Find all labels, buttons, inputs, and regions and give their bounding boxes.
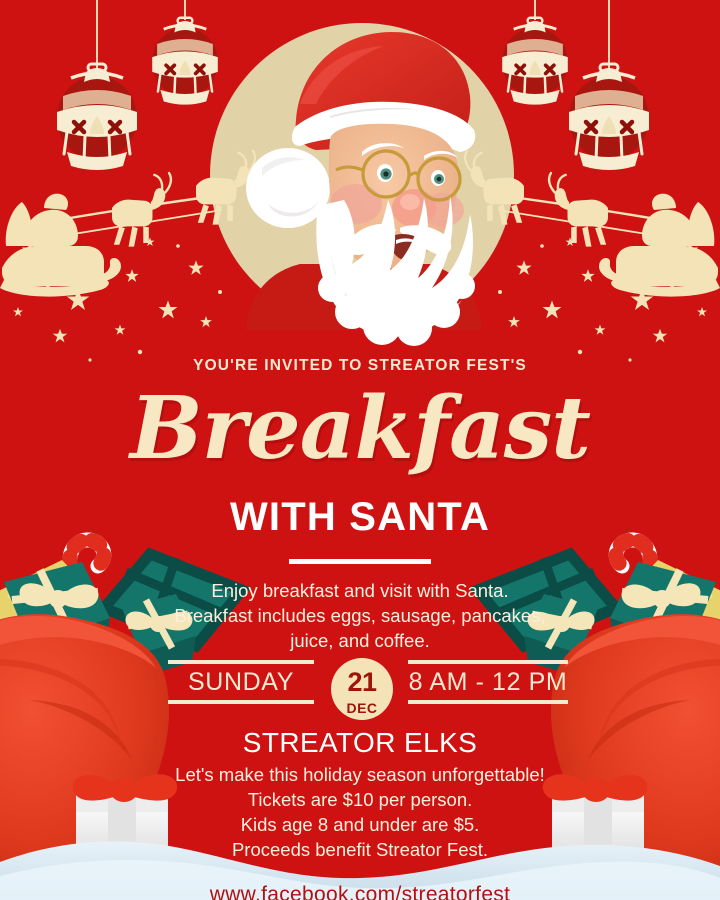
description-line: juice, and coffee. [0, 628, 720, 653]
title-divider [289, 559, 431, 564]
ticket-info-line: Tickets are $10 per person. [0, 787, 720, 812]
description-block: Enjoy breakfast and visit with Santa. Br… [0, 578, 720, 653]
venue-name: STREATOR ELKS [0, 729, 720, 757]
day-rule-bottom [168, 700, 314, 704]
subtitle: WITH SANTA [0, 497, 720, 537]
poster-text-content: YOU'RE INVITED TO STREATOR FEST'S Breakf… [0, 0, 720, 900]
social-media-url[interactable]: www.facebook.com/streatorfest [0, 883, 720, 900]
description-line: Enjoy breakfast and visit with Santa. [0, 578, 720, 603]
ticket-info-line: Let's make this holiday season unforgett… [0, 762, 720, 787]
event-day: SUNDAY [168, 660, 314, 704]
event-time: 8 AM - 12 PM [408, 660, 568, 704]
time-rule-bottom [408, 700, 568, 704]
page-title: Breakfast [0, 386, 720, 472]
christmas-event-poster: YOU'RE INVITED TO STREATOR FEST'S Breakf… [0, 0, 720, 900]
date-month: DEC [331, 696, 393, 715]
ticket-info-block: Let's make this holiday season unforgett… [0, 762, 720, 862]
ticket-info-line: Proceeds benefit Streator Fest. [0, 837, 720, 862]
time-label: 8 AM - 12 PM [408, 664, 568, 700]
day-label: SUNDAY [168, 664, 314, 700]
date-badge: 21 DEC [331, 658, 393, 720]
invite-line: YOU'RE INVITED TO STREATOR FEST'S [0, 357, 720, 375]
date-number: 21 [331, 658, 393, 696]
description-line: Breakfast includes eggs, sausage, pancak… [0, 603, 720, 628]
ticket-info-line: Kids age 8 and under are $5. [0, 812, 720, 837]
